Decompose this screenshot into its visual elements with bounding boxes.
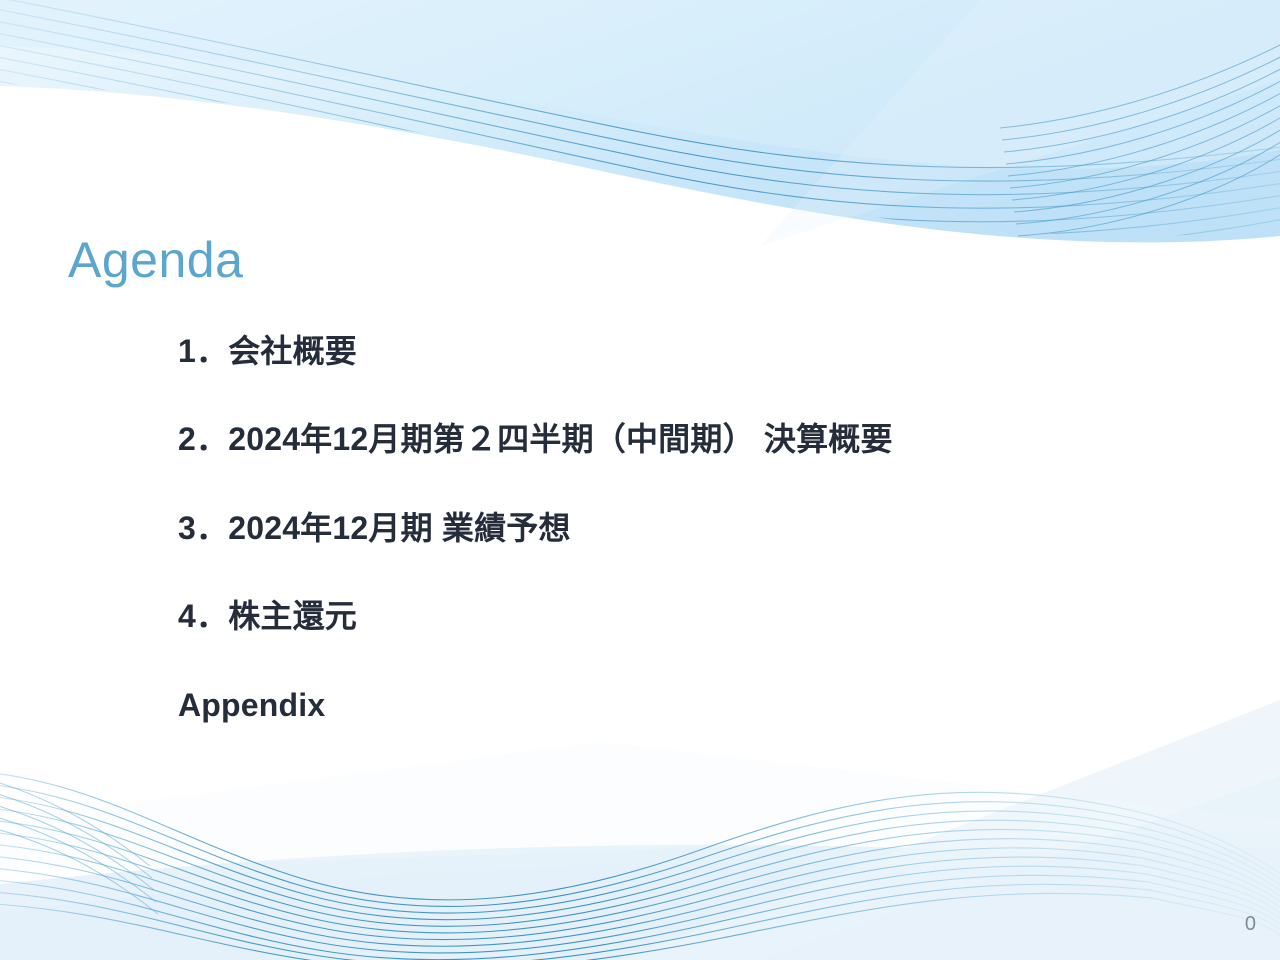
agenda-item-2[interactable]: 2．2024年12月期第２四半期（中間期） 決算概要 [178,420,1238,458]
agenda-item-3[interactable]: 3．2024年12月期 業績予想 [178,509,1238,547]
slide-canvas: Agenda 1．会社概要 2．2024年12月期第２四半期（中間期） 決算概要… [0,0,1280,960]
agenda-list: 1．会社概要 2．2024年12月期第２四半期（中間期） 決算概要 3．2024… [178,332,1238,724]
agenda-item-4[interactable]: 4．株主還元 [178,597,1238,635]
agenda-item-1[interactable]: 1．会社概要 [178,332,1238,370]
page-number: 0 [1245,913,1256,936]
page-title: Agenda [68,234,243,287]
agenda-item-appendix[interactable]: Appendix [178,686,1238,724]
